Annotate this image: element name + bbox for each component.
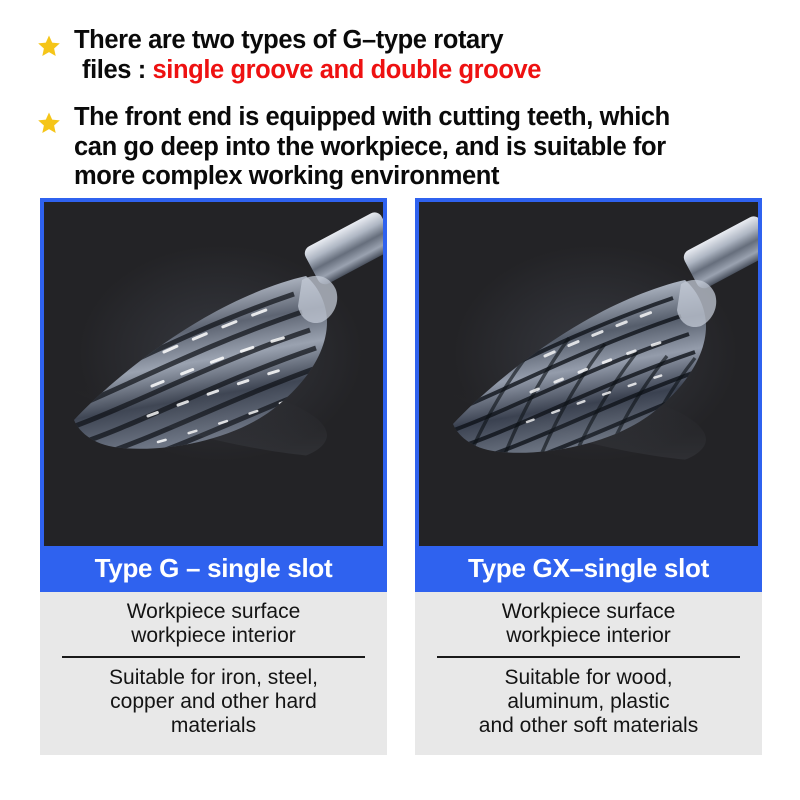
burr-single-cut-illustration [44, 202, 383, 542]
material-block-type-g: Suitable for iron, steel, copper and oth… [56, 666, 371, 739]
headline-bullet-2-text: The front end is equipped with cutting t… [74, 103, 782, 192]
product-card-type-gx[interactable]: Type GX–single slot Workpiece surface wo… [415, 198, 762, 755]
material-block-type-gx: Suitable for wood, aluminum, plastic and… [431, 666, 746, 739]
usage-line-2: workpiece interior [431, 624, 746, 648]
usage-block-type-gx: Workpiece surface workpiece interior [431, 600, 746, 649]
material-line-3: and other soft materials [431, 714, 746, 738]
headline-bullet-1-line1: There are two types of G–type rotary [74, 26, 503, 54]
headline-bullet-2-line2: can go deep into the workpiece, and is s… [74, 133, 782, 163]
headline-bullet-2: The front end is equipped with cutting t… [18, 103, 782, 192]
headline-bullet-2-line3: more complex working environment [74, 162, 782, 192]
burr-double-cut-illustration [419, 202, 758, 542]
material-line-2: aluminum, plastic [431, 690, 746, 714]
headline-bullet-1-accent: single groove and double groove [153, 56, 542, 84]
star-icon [34, 34, 64, 58]
material-line-1: Suitable for iron, steel, [56, 666, 371, 690]
headline-section: There are two types of G–type rotary fil… [0, 0, 800, 192]
footer-divider [62, 656, 365, 658]
headline-bullet-1: There are two types of G–type rotary fil… [18, 26, 782, 85]
type-label-type-g: Type G – single slot [40, 546, 387, 592]
card-footer-type-g: Workpiece surface workpiece interior Sui… [40, 592, 387, 755]
footer-divider [437, 656, 740, 658]
product-photo-type-gx [415, 198, 762, 546]
usage-block-type-g: Workpiece surface workpiece interior [56, 600, 371, 649]
headline-bullet-2-line1: The front end is equipped with cutting t… [74, 103, 670, 131]
star-icon [34, 111, 64, 135]
card-footer-type-gx: Workpiece surface workpiece interior Sui… [415, 592, 762, 755]
material-line-2: copper and other hard [56, 690, 371, 714]
headline-bullet-1-text: There are two types of G–type rotary fil… [74, 26, 782, 85]
product-photo-type-g [40, 198, 387, 546]
headline-bullet-1-line2-prefix: files : [82, 56, 153, 84]
usage-line-1: Workpiece surface [431, 600, 746, 624]
usage-line-2: workpiece interior [56, 624, 371, 648]
usage-line-1: Workpiece surface [56, 600, 371, 624]
material-line-1: Suitable for wood, [431, 666, 746, 690]
product-card-type-g[interactable]: Type G – single slot Workpiece surface w… [40, 198, 387, 755]
material-line-3: materials [56, 714, 371, 738]
type-label-type-gx: Type GX–single slot [415, 546, 762, 592]
product-cards: Type G – single slot Workpiece surface w… [40, 198, 762, 755]
